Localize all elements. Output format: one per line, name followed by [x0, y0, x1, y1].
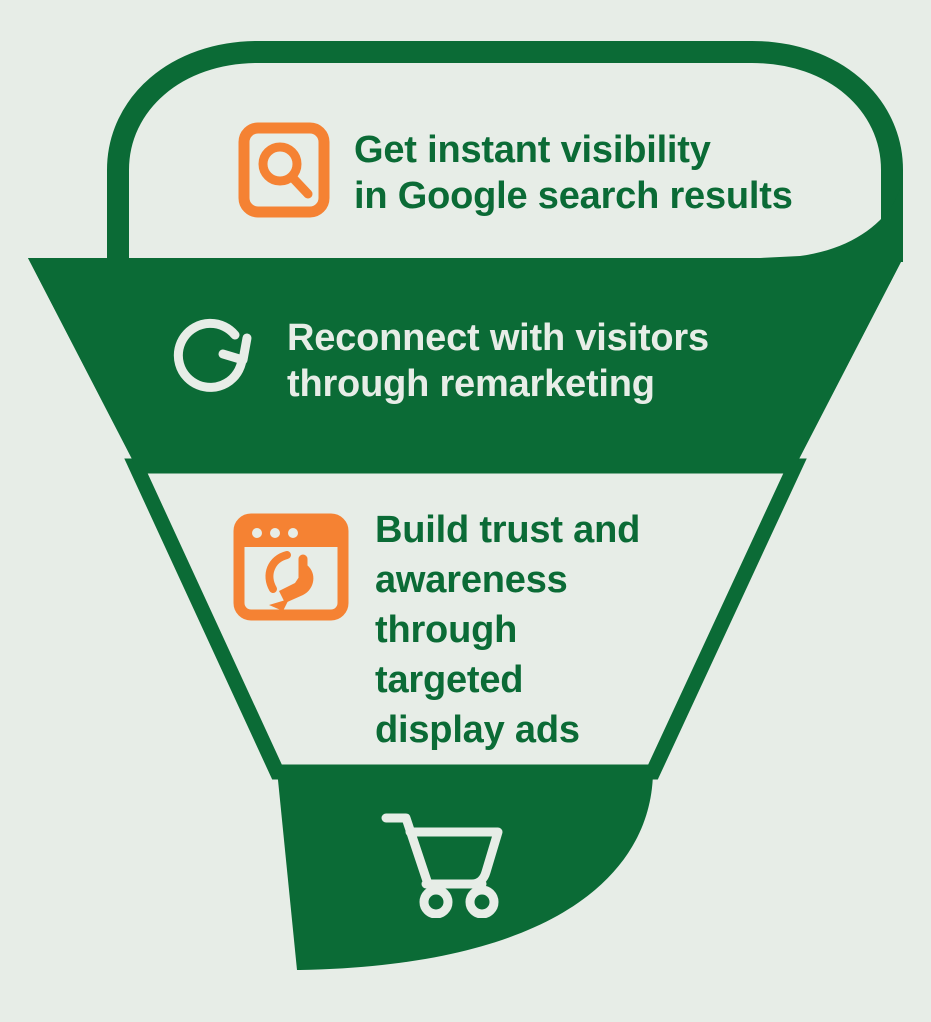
search-box-icon [238, 122, 330, 223]
funnel-stage-2: Reconnect with visitors through remarket… [163, 310, 709, 411]
funnel-stage-3: Build trust and awareness through target… [233, 505, 640, 755]
shopping-cart-icon [380, 806, 508, 923]
browser-window-megaphone-icon [233, 513, 349, 628]
funnel-stage-1-label: Get instant visibility in Google search … [354, 127, 793, 219]
funnel-diagram: Get instant visibility in Google search … [0, 0, 931, 1022]
refresh-circular-arrow-icon [163, 310, 259, 411]
funnel-stage-2-label: Reconnect with visitors through remarket… [287, 315, 709, 407]
funnel-stage-1: Get instant visibility in Google search … [238, 122, 793, 223]
funnel-stage-4 [380, 806, 532, 923]
funnel-stage-3-label: Build trust and awareness through target… [375, 505, 640, 755]
